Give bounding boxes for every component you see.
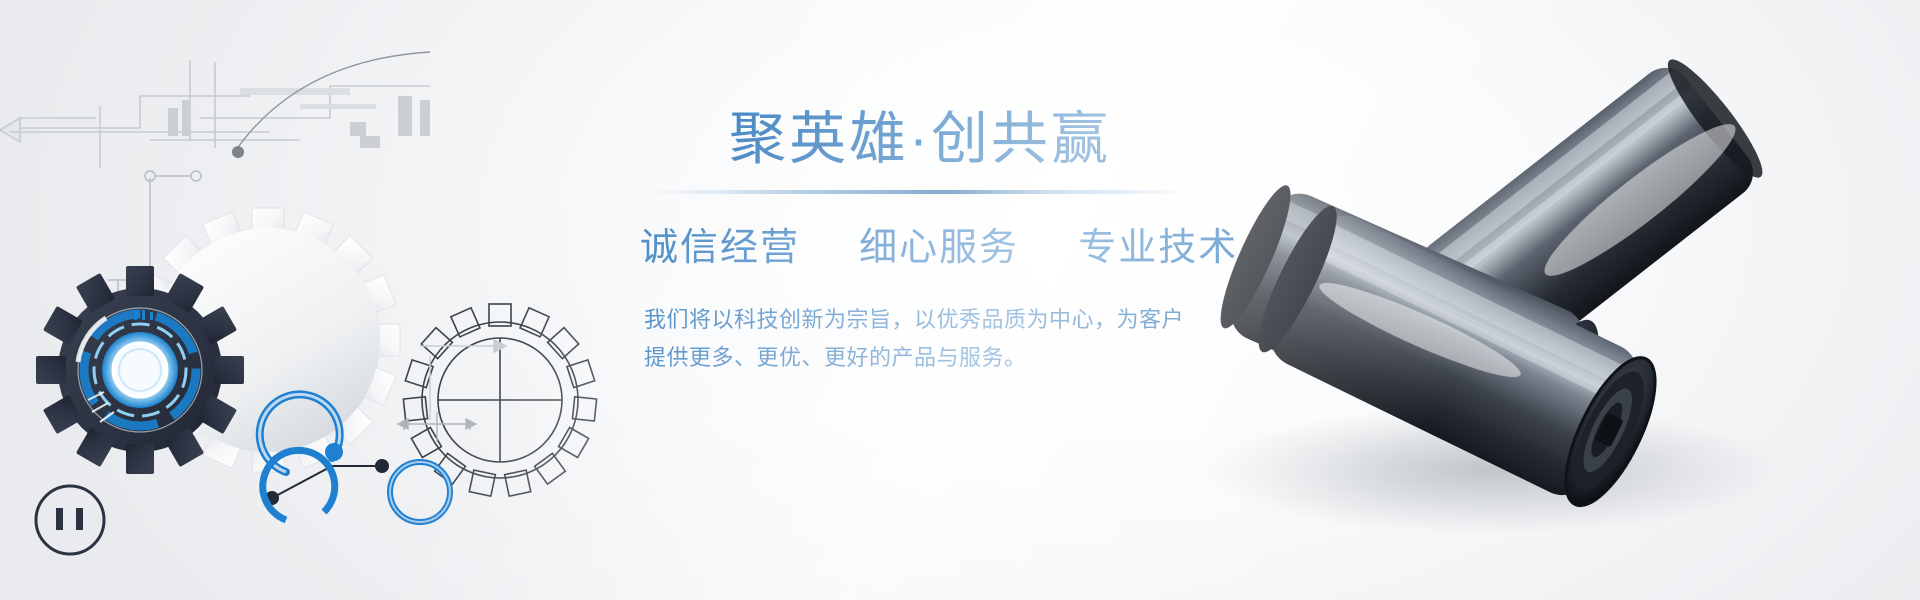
product-photo bbox=[1120, 0, 1920, 600]
description: 我们将以科技创新为宗旨，以优秀品质为中心，为客户 提供更多、更优、更好的产品与服… bbox=[640, 301, 1200, 377]
specular-highlight bbox=[1313, 109, 1748, 390]
roller-front bbox=[1246, 198, 1673, 517]
tagline: 诚信经营 细心服务 专业技术 bbox=[640, 216, 1200, 271]
dark-gear-icon bbox=[36, 266, 244, 474]
tagline-item-3: 专业技术 bbox=[1078, 227, 1238, 269]
tagline-item-1: 诚信经营 bbox=[640, 227, 800, 269]
outline-gear-icon bbox=[403, 304, 596, 496]
promotional-banner: 聚英雄·创共赢 诚信经营 细心服务 专业技术 我们将以科技创新为宗旨，以优秀品质… bbox=[0, 0, 1920, 600]
dimension-arrow-icon bbox=[398, 412, 476, 442]
page-title: 聚英雄·创共赢 bbox=[640, 108, 1200, 172]
description-line-2: 提供更多、更优、更好的产品与服务。 bbox=[644, 339, 1200, 377]
small-ring-icon bbox=[36, 486, 104, 554]
decor-blocks-icon bbox=[168, 96, 430, 148]
divider-rule bbox=[650, 190, 1190, 194]
description-line-1: 我们将以科技创新为宗旨，以优秀品质为中心，为客户 bbox=[644, 301, 1200, 339]
roller-tilted bbox=[1391, 49, 1775, 395]
roller-back-left bbox=[1209, 179, 1614, 474]
circuit-lines-icon bbox=[0, 60, 430, 168]
tech-gears-graphic bbox=[0, 0, 640, 600]
copy-block: 聚英雄·创共赢 诚信经营 细心服务 专业技术 我们将以科技创新为宗旨，以优秀品质… bbox=[640, 108, 1200, 376]
hud-core-icon bbox=[78, 308, 202, 432]
tagline-item-2: 细心服务 bbox=[859, 227, 1019, 269]
large-white-gear-icon bbox=[136, 208, 400, 472]
blue-ring-nodes-icon bbox=[260, 394, 450, 522]
